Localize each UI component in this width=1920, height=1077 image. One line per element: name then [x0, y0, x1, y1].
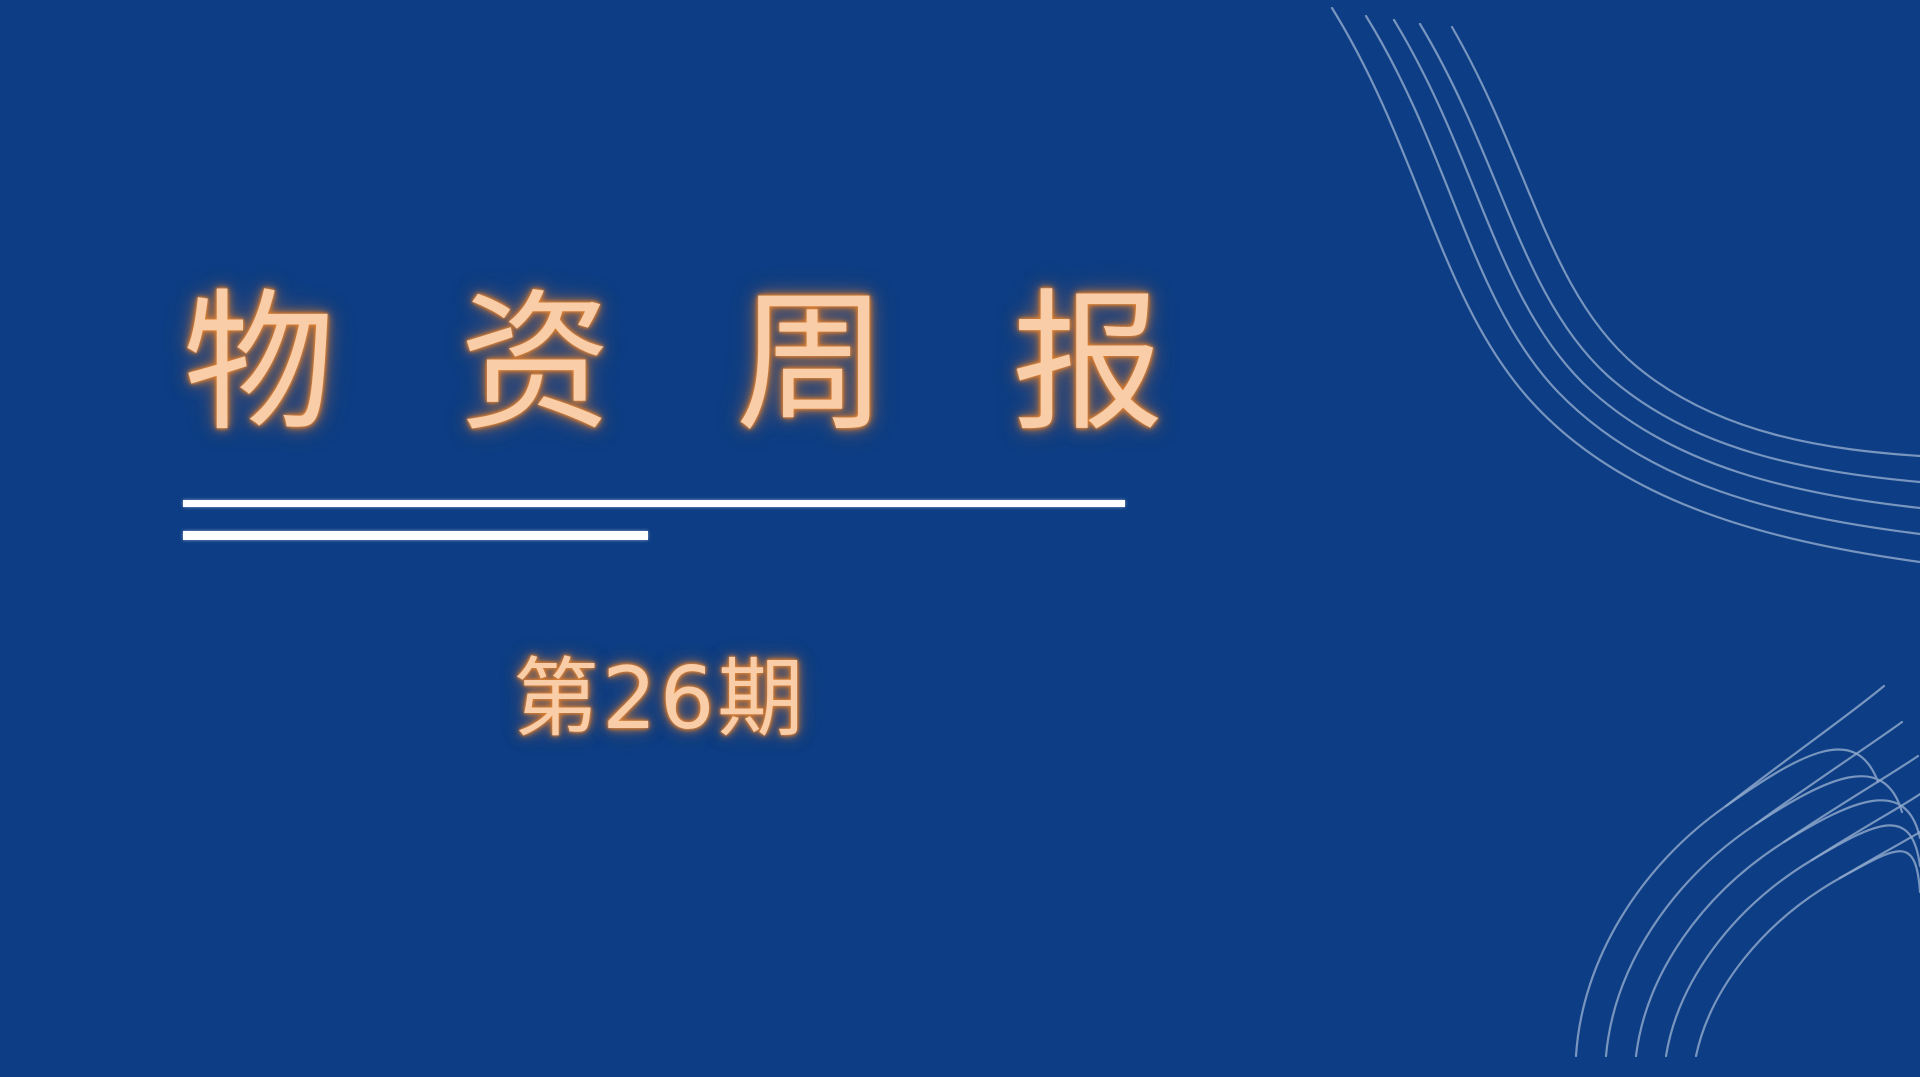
- arc-line-4: [1666, 825, 1920, 1056]
- wave-line-1: [1332, 8, 1920, 562]
- arc-tail-3: [1784, 756, 1918, 842]
- title-underline-short: [183, 531, 648, 540]
- arc-line-1: [1576, 750, 1878, 1056]
- wave-line-5: [1452, 27, 1920, 456]
- slide-subtitle-issue: 第26期: [513, 652, 806, 747]
- wave-line-3: [1394, 20, 1920, 508]
- slide-main-title: 物 资 周 报: [183, 288, 1183, 440]
- wave-line-2: [1366, 16, 1920, 534]
- arc-tail-4: [1812, 794, 1920, 860]
- arc-tail-5: [1840, 832, 1920, 878]
- title-underline-long: [183, 500, 1125, 507]
- wave-line-4: [1420, 24, 1920, 482]
- title-block: 物 资 周 报: [183, 288, 1183, 440]
- arc-line-5: [1696, 851, 1920, 1056]
- arc-tail-2: [1756, 722, 1902, 824]
- title-slide: 物 资 周 报 第26期: [0, 0, 1920, 1077]
- arc-tail-1: [1726, 686, 1884, 806]
- arc-line-3: [1636, 800, 1920, 1056]
- arc-line-2: [1606, 776, 1902, 1056]
